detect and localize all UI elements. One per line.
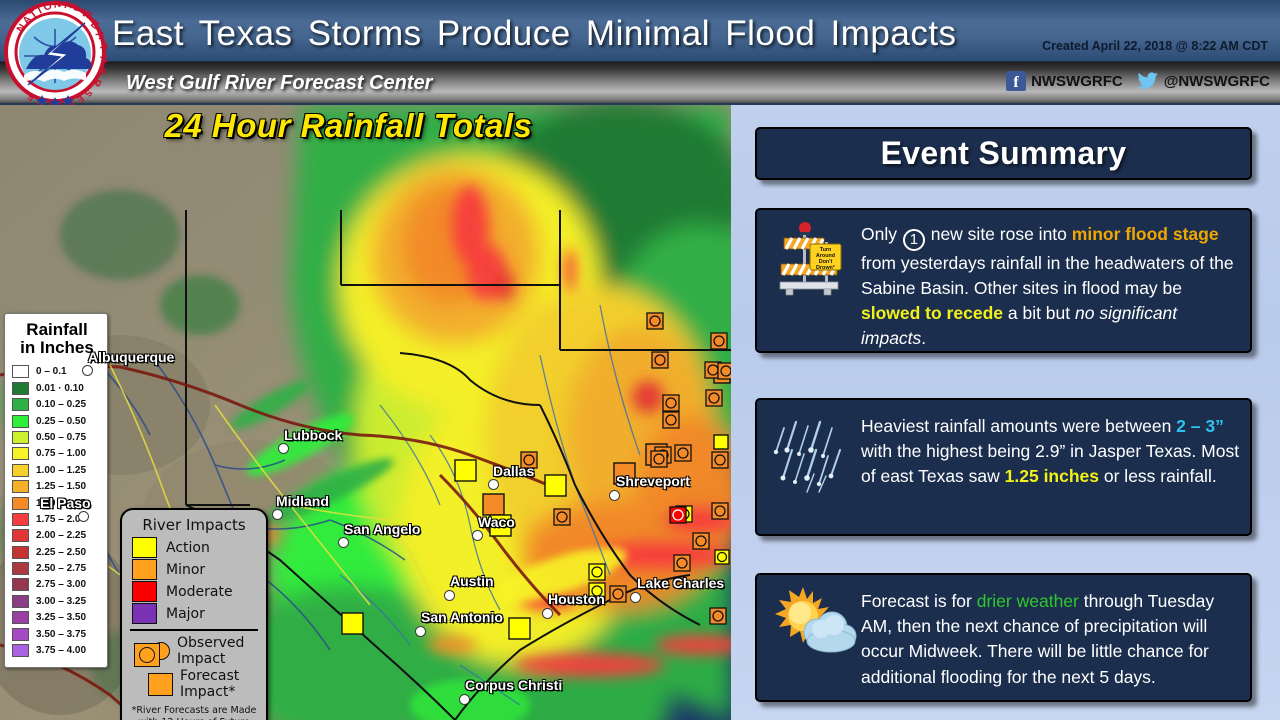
rainfall-legend-row: 0.10 – 0.25 bbox=[12, 396, 102, 412]
rainfall-legend-swatch bbox=[12, 382, 29, 395]
river-impact-label: Moderate bbox=[166, 584, 233, 600]
city-dot-icon bbox=[78, 511, 89, 522]
city-dot-icon bbox=[338, 537, 349, 548]
river-impact-label: Minor bbox=[166, 562, 205, 578]
map-graphic bbox=[0, 105, 731, 720]
rainfall-legend-label: 2.25 – 2.50 bbox=[36, 547, 86, 558]
river-impact-label: Action bbox=[166, 540, 210, 556]
forecast-impact-row: Forecast Impact* bbox=[130, 668, 258, 700]
svg-text:H: H bbox=[97, 54, 108, 64]
observed-inner-circle bbox=[139, 647, 155, 663]
svg-text:Drown°: Drown° bbox=[816, 265, 835, 271]
rainfall-legend-swatch bbox=[12, 513, 29, 526]
slowed-to-recede-highlight: slowed to recede bbox=[861, 303, 1003, 323]
event-summary-panel-rain: Heaviest rainfall amounts were between 2… bbox=[755, 398, 1252, 536]
river-impact-swatch bbox=[132, 581, 157, 602]
facebook-link[interactable]: f NWSWGRFC bbox=[1006, 71, 1123, 91]
city-label: Midland bbox=[276, 493, 329, 509]
rainfall-map[interactable]: 24 Hour Rainfall Totals Rainfall in Inch… bbox=[0, 105, 731, 720]
rainfall-legend-swatch bbox=[12, 578, 29, 591]
city-dot-icon bbox=[609, 490, 620, 501]
facebook-handle: NWSWGRFC bbox=[1031, 73, 1123, 90]
river-impact-swatch bbox=[132, 603, 157, 624]
rainfall-legend-row: 2.25 – 2.50 bbox=[12, 544, 102, 560]
city-dot-icon bbox=[542, 608, 553, 619]
rainfall-legend-swatch bbox=[12, 611, 29, 624]
rainfall-legend-row: 3.75 – 4.00 bbox=[12, 642, 102, 658]
rainfall-legend-row: 1.00 – 1.25 bbox=[12, 462, 102, 478]
flood-text-p4: a bit but bbox=[1003, 303, 1075, 323]
river-impact-label: Major bbox=[166, 606, 205, 622]
forecast-impact-label: Forecast Impact* bbox=[180, 668, 258, 700]
city-label: Corpus Christi bbox=[465, 677, 562, 693]
rainfall-legend-title-line1: Rainfall bbox=[12, 321, 102, 339]
rainfall-legend-swatch bbox=[12, 365, 29, 378]
rainfall-legend-label: 3.75 – 4.00 bbox=[36, 645, 86, 656]
svg-text:A: A bbox=[64, 0, 72, 11]
river-impact-swatch bbox=[132, 559, 157, 580]
city-label: Dallas bbox=[493, 463, 534, 479]
city-dot-icon bbox=[472, 530, 483, 541]
river-impacts-title: River Impacts bbox=[130, 516, 258, 534]
rainfall-legend-label: 0 – 0.1 bbox=[36, 366, 67, 377]
river-impact-row: Moderate bbox=[132, 581, 258, 602]
rainfall-legend-swatch bbox=[12, 431, 29, 444]
rainfall-legend-label: 1.00 – 1.25 bbox=[36, 465, 86, 476]
rainfall-legend-row: 2.75 – 3.00 bbox=[12, 577, 102, 593]
city-label: Shreveport bbox=[616, 473, 690, 489]
twitter-icon bbox=[1137, 71, 1159, 91]
rainfall-legend-label: 0.10 – 0.25 bbox=[36, 399, 86, 410]
rainfall-legend-row: 2.50 – 2.75 bbox=[12, 560, 102, 576]
rainfall-legend-row: 2.00 – 2.25 bbox=[12, 528, 102, 544]
city-dot-icon bbox=[278, 443, 289, 454]
panel-forecast-text: Forecast is for drier weather through Tu… bbox=[861, 585, 1240, 690]
city-dot-icon bbox=[444, 590, 455, 601]
rainfall-legend-swatch bbox=[12, 464, 29, 477]
rainfall-legend-label: 0.01 · 0.10 bbox=[36, 383, 84, 394]
rainfall-legend-row: 1.25 – 1.50 bbox=[12, 478, 102, 494]
forecast-text-p1: Forecast is for bbox=[861, 591, 977, 611]
flood-text-p2: new site rose into bbox=[926, 224, 1072, 244]
sun-behind-cloud-icon bbox=[765, 585, 861, 657]
twitter-handle: @NWSWGRFC bbox=[1164, 73, 1270, 90]
city-label: Austin bbox=[450, 573, 494, 589]
rainfall-legend-swatch bbox=[12, 398, 29, 411]
typical-rainfall-highlight: 1.25 inches bbox=[1005, 466, 1099, 486]
river-legend-divider bbox=[130, 629, 258, 631]
river-impacts-rows: ActionMinorModerateMajor bbox=[130, 537, 258, 624]
social-links: f NWSWGRFC @NWSWGRFC bbox=[1006, 71, 1270, 91]
rainfall-legend: Rainfall in Inches 0 – 0.10.01 · 0.100.1… bbox=[4, 313, 108, 668]
event-summary-panel-forecast: Forecast is for drier weather through Tu… bbox=[755, 573, 1252, 702]
turn-around-dont-drown-barricade-icon: Turn Around Don't Drown° bbox=[765, 220, 861, 298]
minor-flood-stage-highlight: minor flood stage bbox=[1072, 224, 1219, 244]
rainfall-legend-row: 0.25 – 0.50 bbox=[12, 413, 102, 429]
city-label: El Paso bbox=[40, 495, 91, 511]
rainfall-legend-row: 0.75 – 1.00 bbox=[12, 446, 102, 462]
river-impacts-legend: River Impacts ActionMinorModerateMajor O… bbox=[120, 508, 268, 720]
rain-text-p1: Heaviest rainfall amounts were between bbox=[861, 416, 1176, 436]
event-summary-header: Event Summary bbox=[755, 127, 1252, 180]
rainfall-legend-swatch bbox=[12, 644, 29, 657]
nws-logo-icon: N A T I O N A L W E A T H E R S E R V I … bbox=[2, 0, 108, 105]
drier-weather-highlight: drier weather bbox=[977, 591, 1079, 611]
rainfall-legend-row: 3.50 – 3.75 bbox=[12, 626, 102, 642]
city-dot-icon bbox=[82, 365, 93, 376]
city-dot-icon bbox=[415, 626, 426, 637]
forecast-observed-combined-symbol bbox=[134, 643, 160, 667]
river-legend-footnote: *River Forecasts are Made with 12 Hours … bbox=[130, 705, 258, 720]
rainfall-legend-swatch bbox=[12, 562, 29, 575]
city-label: Albuquerque bbox=[88, 349, 174, 365]
river-impact-row: Major bbox=[132, 603, 258, 624]
panel-flood-text: Only 1 new site rose into minor flood st… bbox=[861, 220, 1240, 351]
city-label: Lubbock bbox=[284, 427, 342, 443]
rain-streaks-icon bbox=[765, 410, 861, 496]
page-title: East Texas Storms Produce Minimal Flood … bbox=[112, 14, 957, 54]
rainfall-legend-swatch bbox=[12, 447, 29, 460]
rainfall-legend-row: 0.50 – 0.75 bbox=[12, 429, 102, 445]
city-dot-icon bbox=[272, 509, 283, 520]
rainfall-legend-swatch bbox=[12, 546, 29, 559]
svg-text:E: E bbox=[95, 68, 108, 76]
event-summary-heading: Event Summary bbox=[881, 135, 1127, 172]
office-name: West Gulf River Forecast Center bbox=[126, 72, 432, 95]
twitter-link[interactable]: @NWSWGRFC bbox=[1137, 71, 1270, 91]
rainfall-legend-swatch bbox=[12, 415, 29, 428]
rainfall-legend-label: 3.25 – 3.50 bbox=[36, 612, 86, 623]
rainfall-legend-rows: 0 – 0.10.01 · 0.100.10 – 0.250.25 – 0.50… bbox=[12, 364, 102, 659]
svg-text:N: N bbox=[52, 0, 62, 11]
city-label: Houston bbox=[548, 591, 605, 607]
river-impact-row: Minor bbox=[132, 559, 258, 580]
rainfall-legend-swatch bbox=[12, 595, 29, 608]
rainfall-legend-label: 0.25 – 0.50 bbox=[36, 416, 86, 427]
rainfall-legend-label: 0.50 – 0.75 bbox=[36, 432, 86, 443]
flood-text-p3: from yesterdays rainfall in the headwate… bbox=[861, 253, 1234, 298]
page-header: N A T I O N A L W E A T H E R S E R V I … bbox=[0, 0, 1280, 105]
river-impact-row: Action bbox=[132, 537, 258, 558]
rainfall-legend-swatch bbox=[12, 628, 29, 641]
city-dot-icon bbox=[488, 479, 499, 490]
map-title: 24 Hour Rainfall Totals bbox=[0, 107, 714, 145]
river-impact-swatch bbox=[132, 537, 157, 558]
rainfall-legend-row: 3.25 – 3.50 bbox=[12, 610, 102, 626]
rainfall-legend-label: 0.75 – 1.00 bbox=[36, 448, 86, 459]
rainfall-legend-swatch bbox=[12, 497, 29, 510]
city-dot-icon bbox=[630, 592, 641, 603]
flood-text-p1: Only bbox=[861, 224, 902, 244]
city-label: Waco bbox=[478, 514, 515, 530]
city-label: Lake Charles bbox=[637, 575, 724, 591]
panel-rain-text: Heaviest rainfall amounts were between 2… bbox=[861, 410, 1240, 490]
new-site-count-badge: 1 bbox=[903, 229, 925, 251]
rainfall-legend-label: 3.50 – 3.75 bbox=[36, 629, 86, 640]
rain-text-p3: or less rainfall. bbox=[1099, 466, 1217, 486]
rainfall-legend-label: 2.00 – 2.25 bbox=[36, 530, 86, 541]
rainfall-legend-label: 2.75 – 3.00 bbox=[36, 579, 86, 590]
facebook-icon: f bbox=[1006, 71, 1026, 91]
city-label: San Antonio bbox=[421, 609, 503, 625]
city-dot-icon bbox=[459, 694, 470, 705]
rainfall-legend-row: 0.01 · 0.10 bbox=[12, 380, 102, 396]
rainfall-legend-row: 3.00 – 3.25 bbox=[12, 593, 102, 609]
rainfall-legend-swatch bbox=[12, 480, 29, 493]
rainfall-legend-label: 2.50 – 2.75 bbox=[36, 563, 86, 574]
rainfall-legend-swatch bbox=[12, 529, 29, 542]
forecast-impact-swatch bbox=[148, 673, 173, 696]
flood-text-p5: . bbox=[921, 328, 926, 348]
observed-impact-label: Observed Impact bbox=[177, 635, 258, 667]
event-summary-panel-flood: Turn Around Don't Drown° Only 1 new site… bbox=[755, 208, 1252, 353]
rainfall-range-highlight: 2 – 3” bbox=[1176, 416, 1224, 436]
rainfall-legend-label: 1.25 – 1.50 bbox=[36, 481, 86, 492]
created-timestamp: Created April 22, 2018 @ 8:22 AM CDT bbox=[1042, 39, 1268, 53]
city-label: San Angelo bbox=[344, 521, 421, 537]
rainfall-legend-label: 3.00 – 3.25 bbox=[36, 596, 86, 607]
